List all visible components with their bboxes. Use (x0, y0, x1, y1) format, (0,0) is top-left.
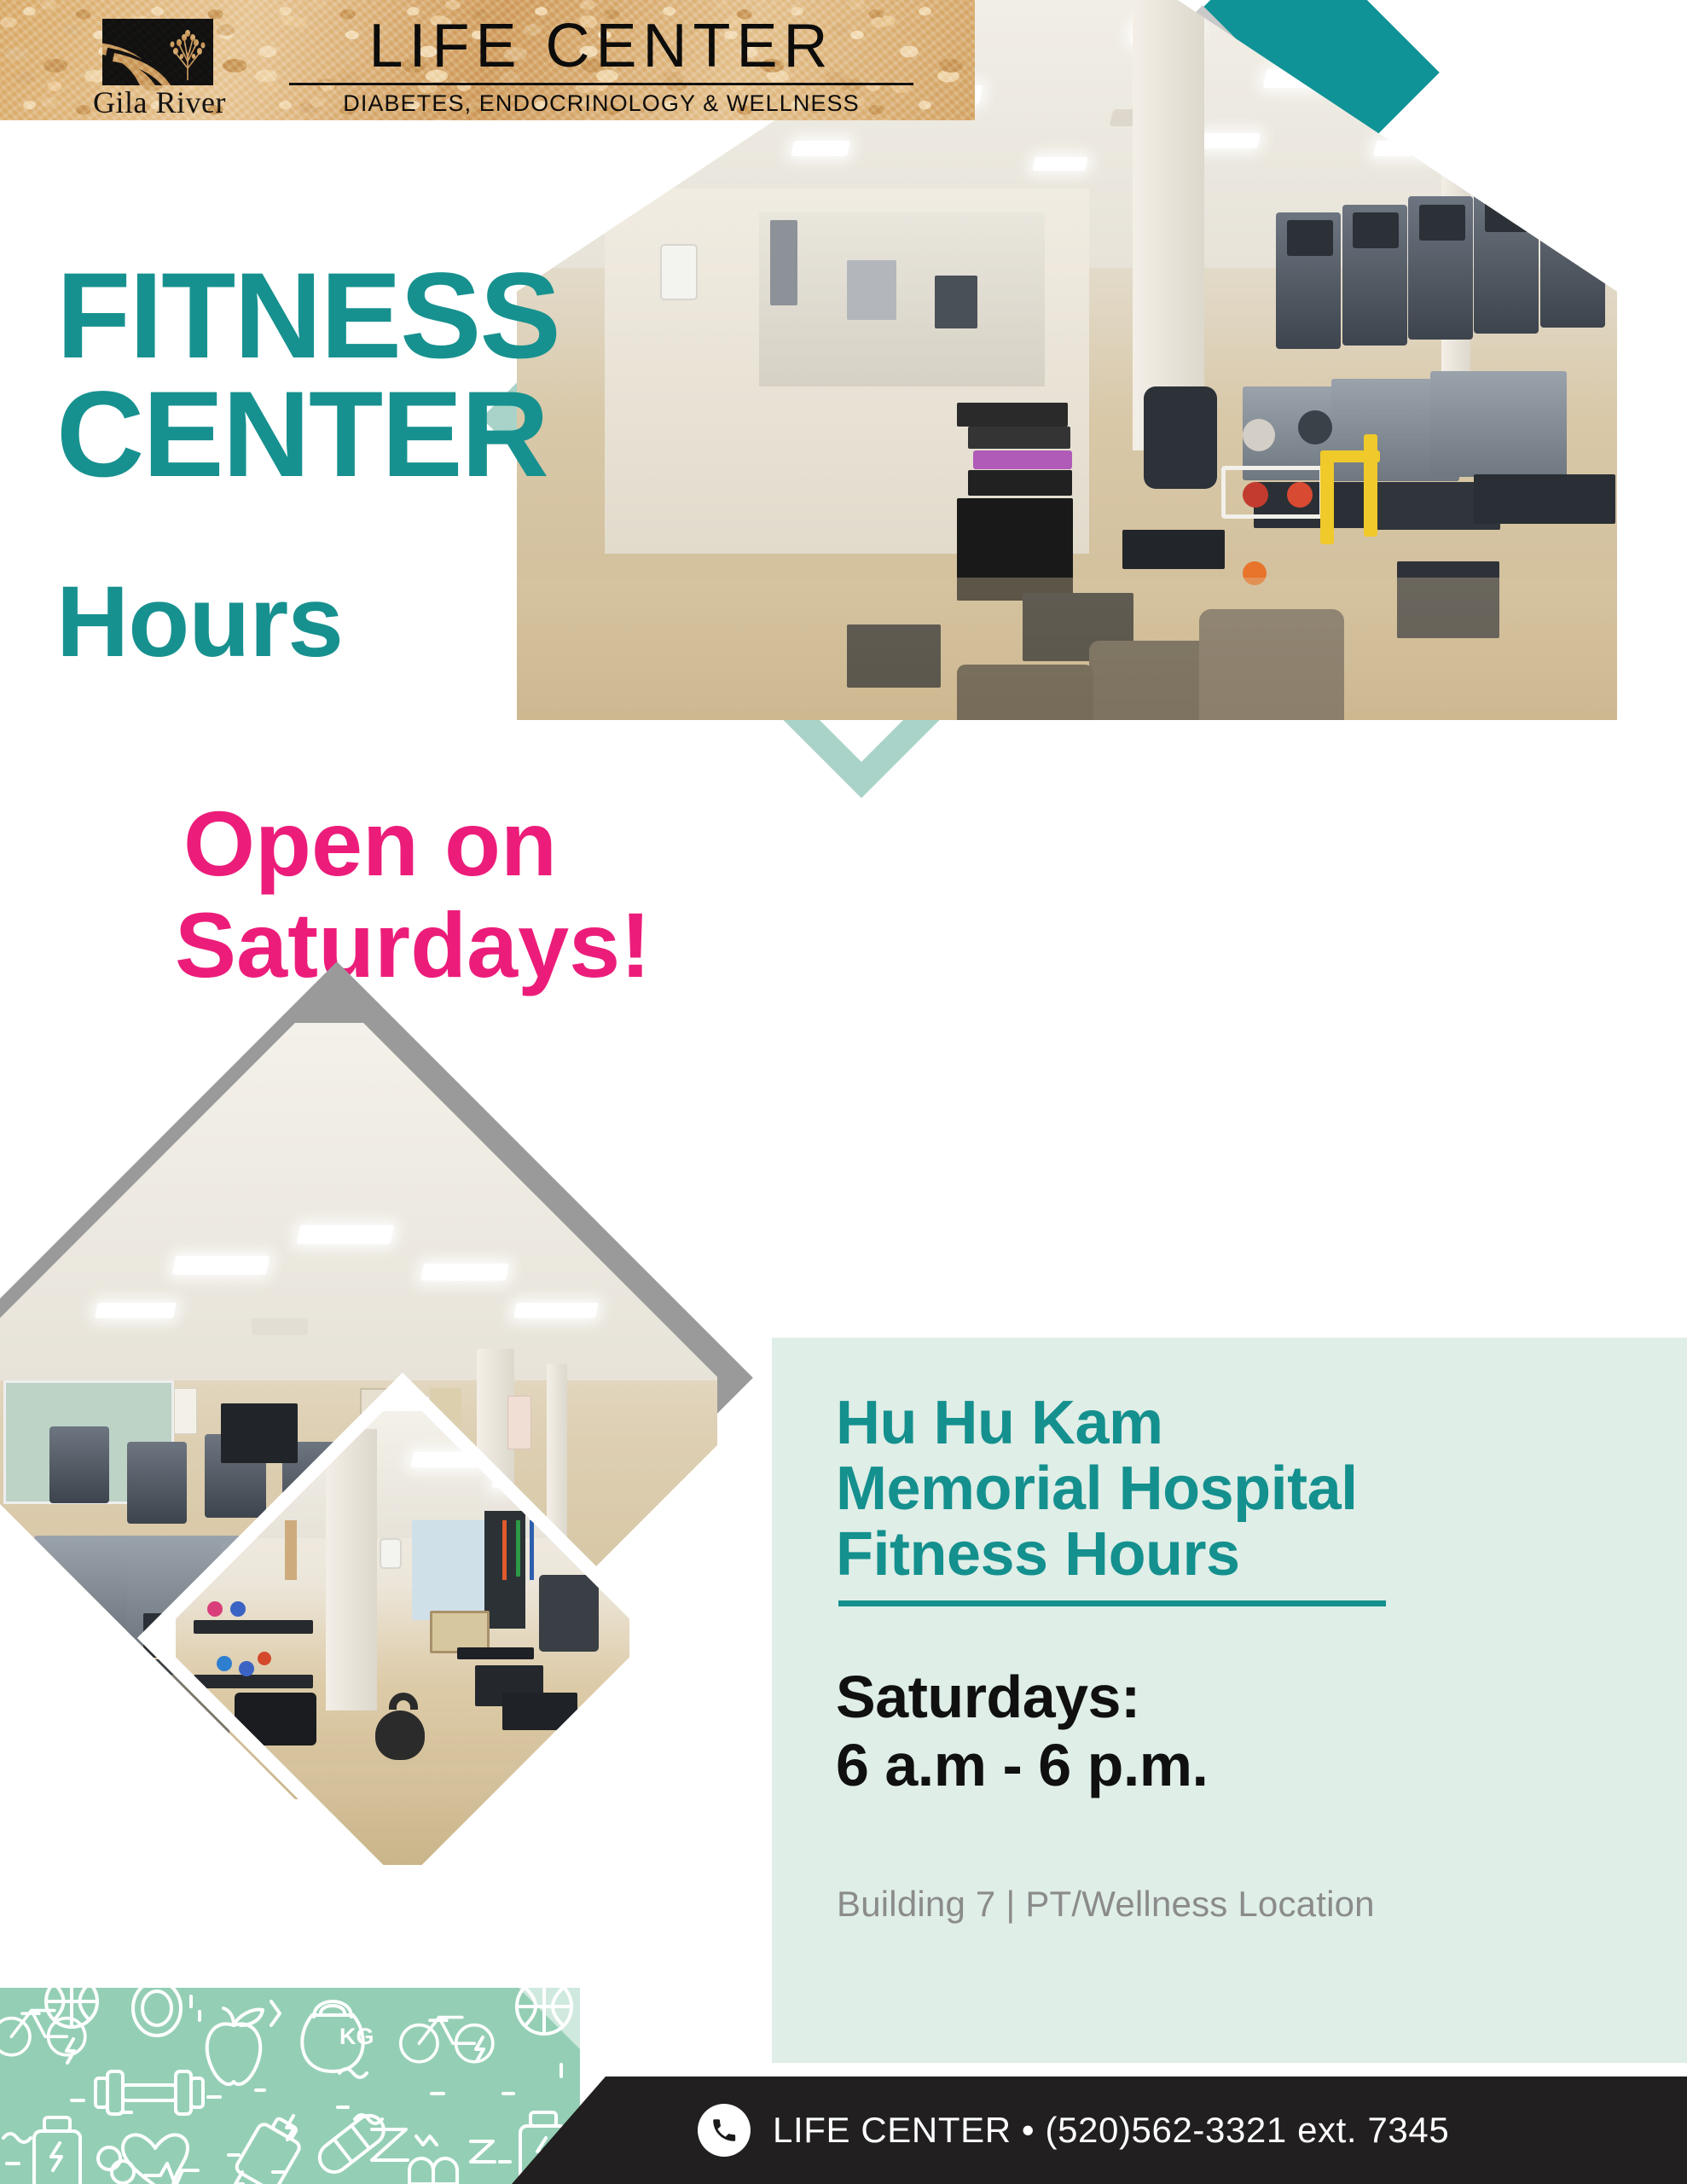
info-title-line-2: Memorial Hospital (836, 1455, 1358, 1523)
contact-footer-bar: LIFE CENTER • (520)562-3321 ext. 7345 (512, 2077, 1687, 2184)
callout-line-2: Saturdays! (175, 895, 651, 996)
headline-line-1: FITNESS (56, 248, 559, 384)
location-note: Building 7 | PT/Wellness Location (837, 1884, 1673, 1925)
header-brand-band: Gila River HEALTH CARE LIFE CENTER DIABE… (0, 0, 975, 120)
headline-hours: Hours (56, 572, 343, 672)
life-center-tagline: DIABETES, ENDOCRINOLOGY & WELLNESS (286, 90, 917, 117)
callout-line-1: Open on (183, 792, 557, 895)
page-title: FITNESS CENTER (56, 258, 559, 494)
hours-day-label: Saturdays: (836, 1664, 1140, 1730)
phone-icon (698, 2104, 751, 2157)
hours-detail: Saturdays: 6 a.m - 6 p.m. (836, 1664, 1655, 1800)
kettlebell-icon (375, 1711, 425, 1760)
lower-left-diamond-cluster (0, 1049, 802, 1996)
info-panel-title: Hu Hu Kam Memorial Hospital Fitness Hour… (836, 1391, 1655, 1588)
info-title-line-1: Hu Hu Kam (836, 1389, 1163, 1457)
life-center-title: LIFE CENTER (286, 15, 917, 77)
org-subtitle: HEALTH CARE (53, 118, 266, 120)
headline-line-2: CENTER (56, 367, 548, 502)
highlight-callout: Open on Saturdays! (183, 793, 651, 996)
fitness-icon-pattern: KG (0, 1988, 580, 2184)
info-title-line-3: Fitness Hours (836, 1520, 1240, 1589)
org-name: Gila River (53, 87, 266, 119)
pattern-icons: KG (0, 1988, 580, 2184)
life-center-lockup: LIFE CENTER DIABETES, ENDOCRINOLOGY & WE… (286, 15, 917, 117)
title-underline (838, 1600, 1386, 1606)
pattern-kg-label: KG (339, 2024, 374, 2049)
gila-river-plant-logo-icon (102, 19, 213, 85)
divider-rule (289, 83, 913, 85)
hours-time-value: 6 a.m - 6 p.m. (836, 1732, 1208, 1798)
hours-info-panel: Hu Hu Kam Memorial Hospital Fitness Hour… (772, 1338, 1687, 2063)
footer-contact-text: LIFE CENTER • (520)562-3321 ext. 7345 (773, 2110, 1449, 2151)
gila-river-logo: Gila River HEALTH CARE (53, 19, 266, 120)
